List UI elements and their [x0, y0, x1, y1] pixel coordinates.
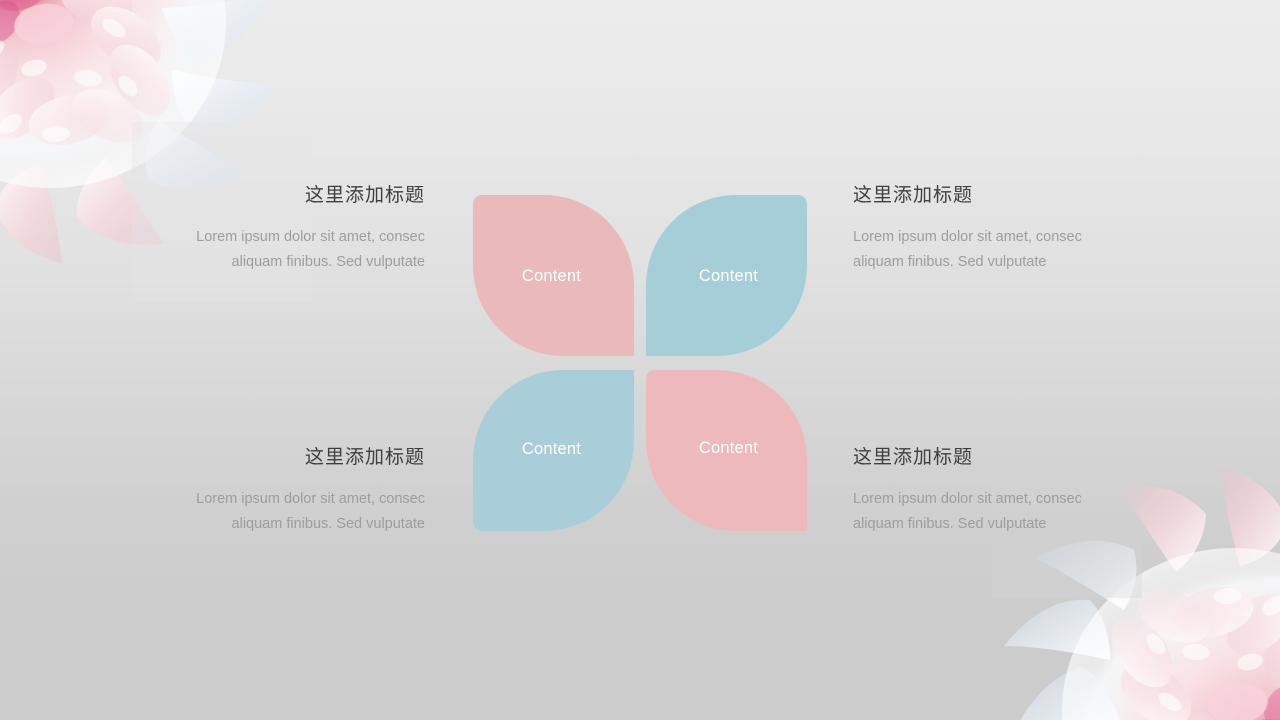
petal-label-top-right: Content	[699, 267, 758, 286]
petal-top-left[interactable]: Content	[473, 195, 634, 356]
slide-canvas: Content Content Content Content 这里添加标题 L…	[0, 0, 1280, 720]
text-block-top-right: 这里添加标题 Lorem ipsum dolor sit amet, conse…	[853, 185, 1109, 275]
text-block-bottom-left: 这里添加标题 Lorem ipsum dolor sit amet, conse…	[169, 447, 425, 537]
text-block-body-line-2: aliquam finibus. Sed vulputate	[853, 512, 1109, 537]
text-block-body-line-2: aliquam finibus. Sed vulputate	[853, 250, 1109, 275]
text-block-body: Lorem ipsum dolor sit amet, consec aliqu…	[169, 487, 425, 537]
text-block-title: 这里添加标题	[169, 447, 425, 469]
text-block-title: 这里添加标题	[853, 185, 1109, 207]
petal-cluster: Content Content Content Content	[473, 195, 807, 531]
petal-label-top-left: Content	[522, 267, 581, 286]
text-block-body-line-1: Lorem ipsum dolor sit amet, consec	[169, 487, 425, 512]
text-block-bottom-right: 这里添加标题 Lorem ipsum dolor sit amet, conse…	[853, 447, 1109, 537]
text-block-title: 这里添加标题	[169, 185, 425, 207]
petal-bottom-left[interactable]: Content	[473, 370, 634, 531]
text-block-top-left: 这里添加标题 Lorem ipsum dolor sit amet, conse…	[169, 185, 425, 275]
text-block-body: Lorem ipsum dolor sit amet, consec aliqu…	[853, 225, 1109, 275]
petal-label-bottom-right: Content	[699, 439, 758, 458]
petal-label-bottom-left: Content	[522, 440, 581, 459]
text-block-body: Lorem ipsum dolor sit amet, consec aliqu…	[169, 225, 425, 275]
text-block-body-line-1: Lorem ipsum dolor sit amet, consec	[853, 225, 1109, 250]
petal-bottom-right[interactable]: Content	[646, 370, 807, 531]
text-block-body-line-2: aliquam finibus. Sed vulputate	[169, 512, 425, 537]
text-block-body-line-1: Lorem ipsum dolor sit amet, consec	[853, 487, 1109, 512]
text-block-body: Lorem ipsum dolor sit amet, consec aliqu…	[853, 487, 1109, 537]
text-block-title: 这里添加标题	[853, 447, 1109, 469]
petal-top-right[interactable]: Content	[646, 195, 807, 356]
text-block-body-line-1: Lorem ipsum dolor sit amet, consec	[169, 225, 425, 250]
text-block-body-line-2: aliquam finibus. Sed vulputate	[169, 250, 425, 275]
